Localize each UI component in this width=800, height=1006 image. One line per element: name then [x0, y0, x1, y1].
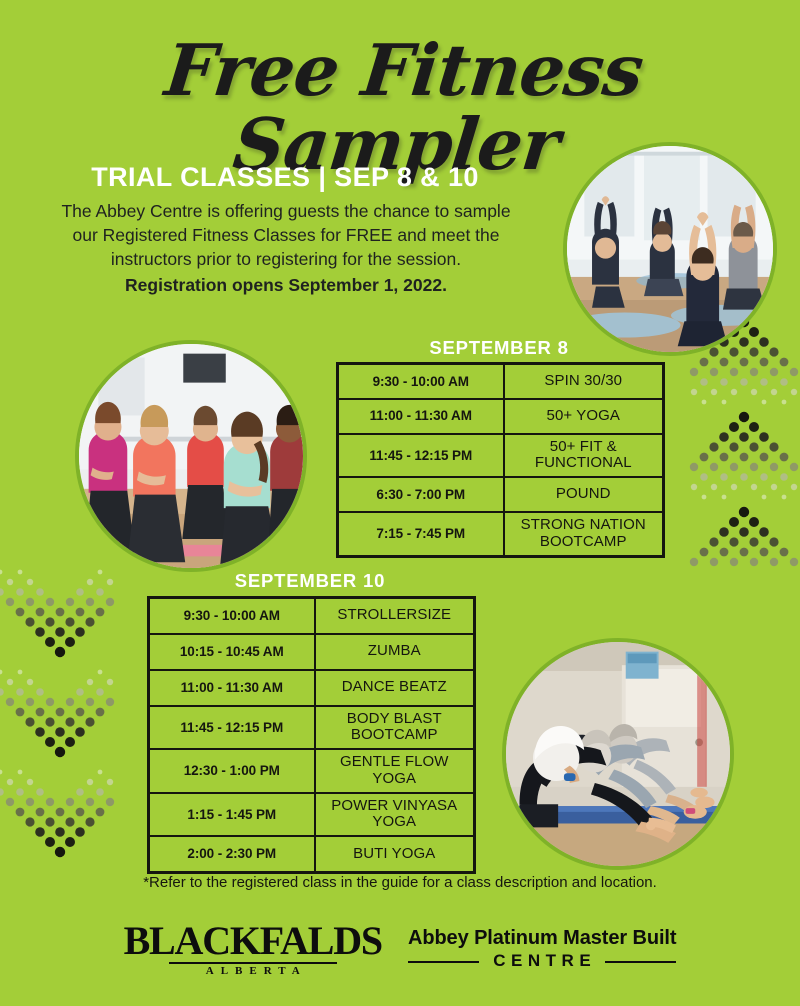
september-10-heading: SEPTEMBER 10	[147, 570, 473, 592]
table-row: 2:00 - 2:30 PM BUTI YOGA	[149, 836, 475, 872]
class-name: GENTLE FLOW YOGA	[315, 749, 475, 793]
blackfalds-province: ALBERTA	[169, 962, 337, 977]
poster: Free Fitness Sampler TRIAL CLASSES | SEP…	[0, 0, 800, 1006]
rule-right	[605, 961, 676, 963]
registration-notice: Registration opens September 1, 2022.	[60, 273, 512, 297]
rule-left	[408, 961, 479, 963]
intro-paragraph: The Abbey Centre is offering guests the …	[60, 199, 512, 298]
class-name: 50+ YOGA	[504, 399, 664, 434]
seniors-stretch-photo	[502, 638, 734, 870]
schedule-table-september-10: 9:30 - 10:00 AM STROLLERSIZE 10:15 - 10:…	[147, 596, 476, 874]
class-time: 11:00 - 11:30 AM	[149, 670, 315, 706]
class-time: 12:30 - 1:00 PM	[149, 749, 315, 793]
class-name: ZUMBA	[315, 634, 475, 670]
footnote: *Refer to the registered class in the gu…	[0, 874, 800, 891]
abbey-centre-logo: Abbey Platinum Master Built CENTRE	[408, 927, 676, 971]
class-time: 11:45 - 12:15 PM	[149, 706, 315, 750]
abbey-wordmark: Abbey Platinum Master Built	[408, 927, 676, 949]
chevron-dots-right	[688, 312, 800, 580]
table-row: 11:45 - 12:15 PM BODY BLAST BOOTCAMP	[149, 706, 475, 750]
abbey-centre-label: CENTRE	[488, 952, 596, 971]
abbey-centre-row: CENTRE	[408, 952, 676, 971]
class-name: STROLLERSIZE	[315, 598, 475, 634]
class-name: BODY BLAST BOOTCAMP	[315, 706, 475, 750]
class-time: 9:30 - 10:00 AM	[149, 598, 315, 634]
trial-classes-subheading: TRIAL CLASSES | SEP 8 & 10	[60, 162, 510, 193]
class-time: 2:00 - 2:30 PM	[149, 836, 315, 872]
logo-bar: BLACKFALDS ALBERTA Abbey Platinum Master…	[0, 912, 800, 986]
table-row: 12:30 - 1:00 PM GENTLE FLOW YOGA	[149, 749, 475, 793]
class-time: 1:15 - 1:45 PM	[149, 793, 315, 837]
class-name: BUTI YOGA	[315, 836, 475, 872]
table-row: 9:30 - 10:00 AM SPIN 30/30	[338, 364, 664, 399]
class-name: DANCE BEATZ	[315, 670, 475, 706]
class-name: STRONG NATION BOOTCAMP	[504, 512, 664, 556]
table-row: 11:45 - 12:15 PM 50+ FIT & FUNCTIONAL	[338, 434, 664, 478]
blackfalds-wordmark: BLACKFALDS	[124, 921, 382, 961]
yoga-class-photo	[563, 142, 777, 356]
september-8-heading: SEPTEMBER 8	[336, 337, 662, 359]
class-name: SPIN 30/30	[504, 364, 664, 399]
class-time: 7:15 - 7:45 PM	[338, 512, 504, 556]
group-fitness-photo	[75, 340, 307, 572]
class-name: POWER VINYASA YOGA	[315, 793, 475, 837]
table-row: 1:15 - 1:45 PM POWER VINYASA YOGA	[149, 793, 475, 837]
class-time: 10:15 - 10:45 AM	[149, 634, 315, 670]
class-time: 6:30 - 7:00 PM	[338, 477, 504, 512]
class-name: 50+ FIT & FUNCTIONAL	[504, 434, 664, 478]
class-time: 11:00 - 11:30 AM	[338, 399, 504, 434]
schedule-table-september-8: 9:30 - 10:00 AM SPIN 30/30 11:00 - 11:30…	[336, 362, 665, 558]
table-row: 10:15 - 10:45 AM ZUMBA	[149, 634, 475, 670]
blackfalds-logo: BLACKFALDS ALBERTA	[124, 921, 382, 977]
table-row: 6:30 - 7:00 PM POUND	[338, 477, 664, 512]
table-row: 7:15 - 7:45 PM STRONG NATION BOOTCAMP	[338, 512, 664, 556]
class-time: 9:30 - 10:00 AM	[338, 364, 504, 399]
class-time: 11:45 - 12:15 PM	[338, 434, 504, 478]
table-row: 11:00 - 11:30 AM DANCE BEATZ	[149, 670, 475, 706]
class-name: POUND	[504, 477, 664, 512]
intro-text: The Abbey Centre is offering guests the …	[61, 201, 510, 269]
table-row: 9:30 - 10:00 AM STROLLERSIZE	[149, 598, 475, 634]
chevron-dots-left	[0, 566, 124, 918]
table-row: 11:00 - 11:30 AM 50+ YOGA	[338, 399, 664, 434]
